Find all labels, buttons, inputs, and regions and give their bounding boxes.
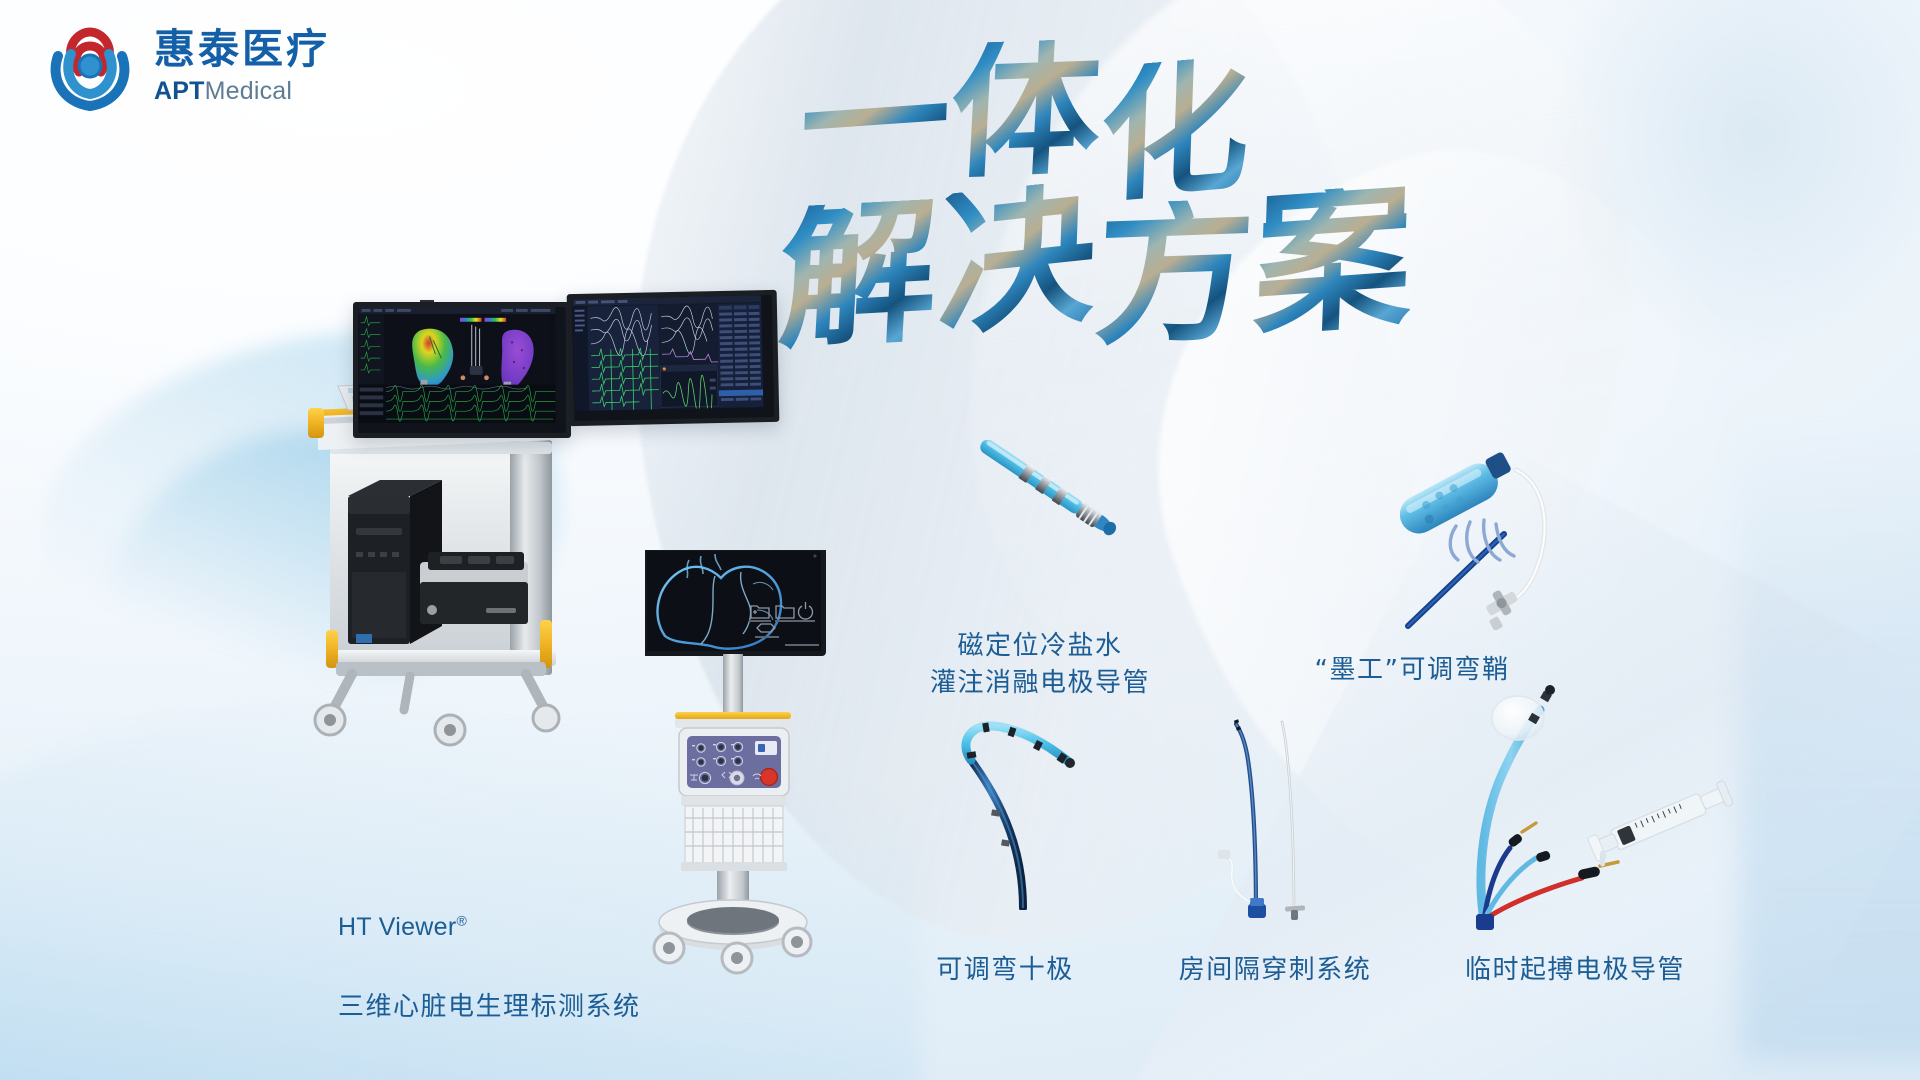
mapping-monitor bbox=[353, 302, 571, 438]
caption-transseptal: 房间隔穿刺系统 bbox=[1155, 952, 1395, 989]
ablation-catheter-image bbox=[960, 440, 1160, 550]
headline-glyph: 方 bbox=[1092, 198, 1258, 349]
headline-glyph: 一 bbox=[798, 49, 952, 198]
logo-apt-text: APT bbox=[154, 77, 205, 105]
headline-glyph: 解 bbox=[776, 199, 941, 353]
ep-recording-screen-content bbox=[572, 295, 764, 411]
caption-steerable-sheath: “墨工”可调弯鞘 bbox=[1282, 652, 1542, 689]
pacing-catheter-image bbox=[1470, 670, 1800, 930]
mapping-monitor-screen bbox=[358, 307, 566, 433]
transseptal-system-image bbox=[1190, 690, 1360, 920]
headline-glyph: 案 bbox=[1252, 183, 1415, 340]
pacing-catheter-illustration bbox=[1470, 670, 1800, 930]
poster-canvas: 惠泰医疗 APTMedical 一 体 化 解 决 方 案 bbox=[0, 0, 1920, 1080]
caption-ablation-catheter: 磁定位冷盐水 灌注消融电极导管 bbox=[920, 628, 1160, 702]
caption-ht-viewer-en: HT Viewer® bbox=[338, 875, 641, 946]
decapolar-catheter-illustration bbox=[935, 700, 1115, 910]
caption-pacing-catheter: 临时起搏电极导管 bbox=[1445, 952, 1705, 989]
logo-medical-text: Medical bbox=[205, 77, 293, 105]
caption-ht-viewer-name: HT Viewer bbox=[338, 913, 456, 941]
ep-recording-monitor-screen bbox=[572, 295, 775, 421]
generator-cart-illustration bbox=[645, 550, 905, 1040]
steerable-sheath-illustration bbox=[1400, 430, 1700, 630]
logo-english-name: APTMedical bbox=[154, 79, 330, 104]
brand-logo: 惠泰医疗 APTMedical bbox=[40, 16, 330, 116]
mapping-screen-content bbox=[358, 307, 556, 423]
registered-trademark-icon: ® bbox=[456, 913, 467, 929]
headline-calligraphy: 一 体 化 解 决 方 案 bbox=[960, 45, 1640, 365]
caption-ht-viewer: HT Viewer® 三维心脏电生理标测系统 bbox=[338, 838, 641, 1063]
decapolar-catheter-image bbox=[935, 700, 1115, 910]
transseptal-illustration bbox=[1190, 690, 1360, 920]
ep-generator-cart bbox=[645, 550, 905, 1040]
steerable-sheath-image bbox=[1400, 430, 1700, 630]
ep-recording-monitor bbox=[567, 290, 780, 426]
ablation-catheter-illustration bbox=[960, 440, 1160, 550]
headline-glyph: 决 bbox=[936, 178, 1098, 341]
logo-chinese-name: 惠泰医疗 bbox=[154, 29, 330, 70]
headline-line-2: 解 决 方 案 bbox=[780, 193, 1412, 338]
caption-decapolar: 可调弯十极 bbox=[905, 952, 1105, 989]
caption-ht-viewer-cn: 三维心脏电生理标测系统 bbox=[338, 989, 641, 1026]
apt-medical-lotus-logo-icon bbox=[40, 16, 140, 116]
